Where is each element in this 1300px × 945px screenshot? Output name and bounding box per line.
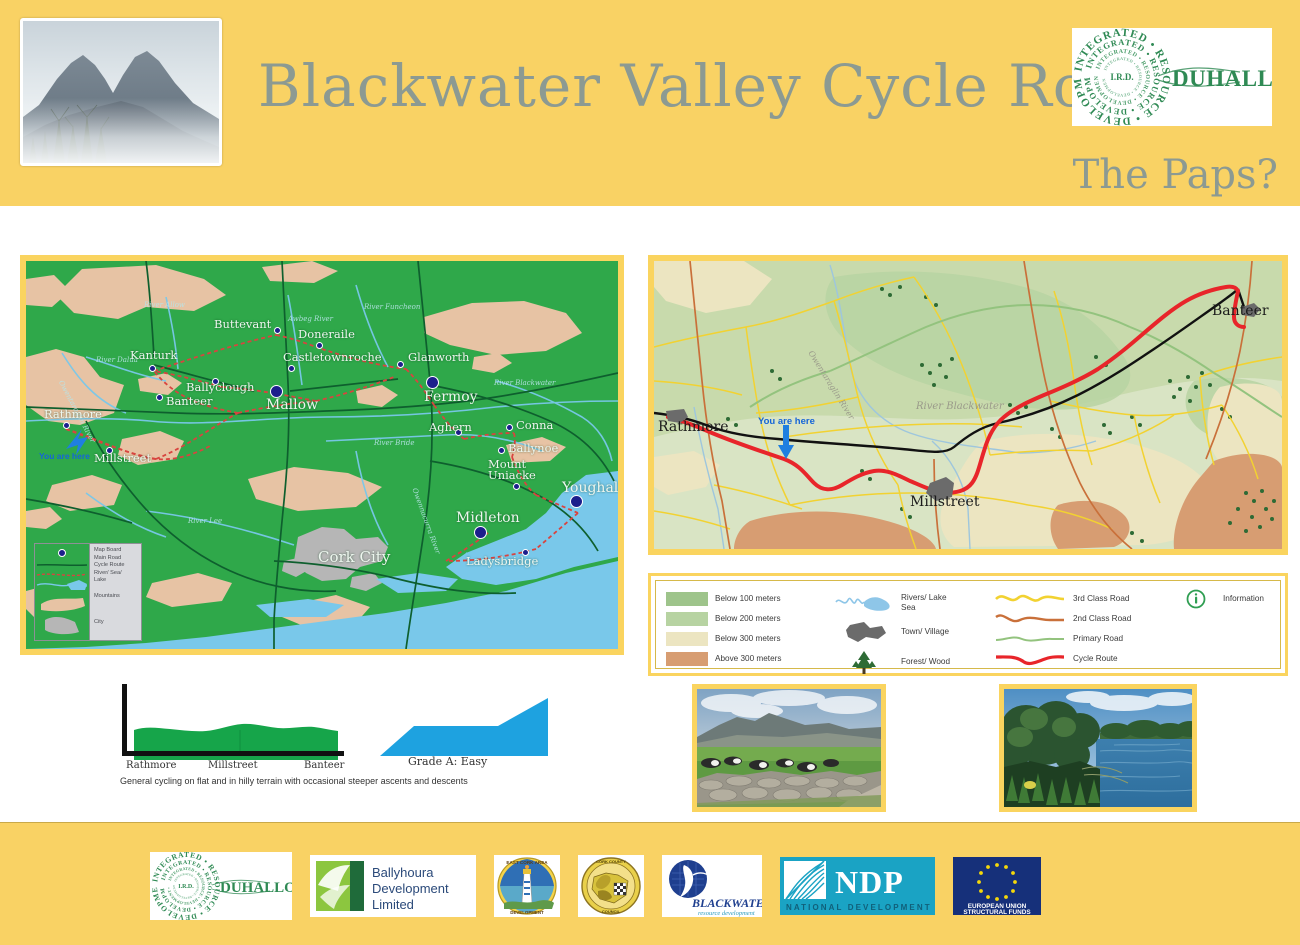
svg-text:Development: Development (372, 881, 449, 896)
ird-duhallow-footer-icon: INTEGRATED • RESOURCE • DEVELOPMENT • IN… (150, 852, 292, 920)
elevation-x-axis (122, 751, 344, 756)
cork-county-council-logo[interactable]: CORK COUNTY COUNCIL (578, 855, 644, 917)
road-label-3rd: 3rd Class Road (1073, 594, 1129, 604)
grade-indicator-chart (380, 696, 550, 762)
detail-label-rathmore: Rathmore (658, 419, 729, 435)
legend-label-river: River/ Sea/Lake (94, 570, 141, 584)
elevation-swatch-above-300 (666, 652, 708, 666)
town-label-ballynoe: Ballynoe (508, 441, 558, 455)
photo-cattle-stone-wall (692, 684, 886, 812)
legend-info-column: Information (1184, 589, 1264, 609)
road-label-cycle: Cycle Route (1073, 654, 1118, 664)
river-label: River Blackwater (494, 379, 555, 387)
overview-map-legend: Map Board Main Road Cycle Route River/ S… (34, 543, 142, 641)
page-subtitle: The Paps? (1073, 152, 1278, 198)
detail-river-label-blackwater: River Blackwater (916, 401, 1004, 412)
town-label-ballyclough: Ballyclough (186, 380, 254, 394)
legend-row: Town/ Village (834, 617, 994, 647)
detail-map[interactable]: Rathmore Millstreet Banteer River Blackw… (648, 255, 1288, 555)
grade-label: Grade A: Easy (408, 755, 487, 768)
town-label-millstreet: Millstreet (94, 451, 151, 465)
town-dot-youghal[interactable] (570, 495, 583, 508)
town-dot-rathmore[interactable] (63, 422, 70, 429)
legend-sample-icon (35, 544, 89, 640)
town-label-cork-city: Cork City (318, 548, 390, 566)
legend-row: Cycle Route (994, 649, 1184, 669)
blackwater-resource-development-logo[interactable]: BLACKWATER resource development (662, 855, 762, 917)
ird-duhallow-spiral-icon: INTEGRATED • RESOURCE • DEVELOPMENT • IN… (1072, 28, 1272, 126)
legend-row: Below 200 meters (666, 609, 834, 629)
header-mountain-photo (20, 18, 222, 166)
information-icon (1184, 588, 1208, 610)
ndp-logo[interactable]: NDP NATIONAL DEVELOPMENT PLAN (780, 857, 935, 915)
legend-row: Rivers/ LakeSea (834, 589, 994, 617)
you-are-here-label-detail: You are here (758, 416, 815, 427)
map-key-legend: Below 100 meters Below 200 meters Below … (648, 573, 1288, 676)
river-label: River Bride (374, 439, 415, 447)
town-label-mount-uniacke: MountUniacke (488, 459, 536, 481)
elevation-tick-millstreet: Millstreet (208, 760, 258, 771)
east-cork-icon: EAST CORK AREA DEVELOPMENT (494, 855, 560, 917)
svg-text:DUHALLOW: DUHALLOW (1172, 66, 1272, 91)
town-label-banteer: Banteer (166, 394, 212, 408)
third-class-road-icon (994, 591, 1066, 607)
legend-row: Primary Road (994, 629, 1184, 649)
legend-row: 2nd Class Road (994, 609, 1184, 629)
svg-text:CORK COUNTY: CORK COUNTY (596, 859, 626, 864)
detail-label-millstreet: Millstreet (910, 494, 979, 510)
photo-river-bank (999, 684, 1197, 812)
svg-text:NATIONAL DEVELOPMENT PLAN: NATIONAL DEVELOPMENT PLAN (786, 903, 935, 912)
town-label-buttevant: Buttevant (214, 317, 271, 331)
town-village-icon (834, 619, 894, 645)
town-dot-conna[interactable] (506, 424, 513, 431)
header-band: Blackwater Valley Cycle Route The Paps? … (0, 0, 1300, 206)
town-label-kanturk: Kanturk (130, 348, 177, 362)
elevation-y-axis (122, 684, 127, 756)
legend-roads-column: 3rd Class Road 2nd Class Road Primary Ro… (994, 589, 1184, 669)
town-label-aghern: Aghern (429, 420, 472, 434)
svg-text:resource development: resource development (698, 910, 755, 917)
second-class-road-icon (994, 611, 1066, 627)
town-label-midleton: Midleton (456, 510, 520, 526)
info-label: Information (1223, 594, 1264, 604)
town-dot-doneraile[interactable] (316, 342, 323, 349)
legend-row: 3rd Class Road (994, 589, 1184, 609)
svg-text:I.R.D.: I.R.D. (1110, 72, 1133, 82)
primary-road-icon (994, 631, 1066, 647)
town-dot-mount-uniacke[interactable] (513, 483, 520, 490)
town-dot-castletownroche[interactable] (288, 365, 295, 372)
road-label-2nd: 2nd Class Road (1073, 614, 1131, 624)
svg-text:Limited: Limited (372, 897, 414, 912)
ird-duhallow-logo: INTEGRATED • RESOURCE • DEVELOPMENT • IN… (1072, 28, 1272, 126)
detail-label-banteer: Banteer (1212, 303, 1269, 319)
river-label: River Allow (144, 301, 185, 309)
svg-text:NDP: NDP (835, 864, 904, 900)
town-dot-kanturk[interactable] (149, 365, 156, 372)
sponsor-logo-strip: INTEGRATED • RESOURCE • DEVELOPMENT • IN… (150, 851, 1160, 921)
svg-text:EAST CORK AREA: EAST CORK AREA (506, 860, 548, 865)
ballyhoura-icon: Ballyhoura Development Limited (310, 855, 476, 917)
legend-features-column: Rivers/ LakeSea Town/ Village Forest/ Wo… (834, 589, 994, 677)
feature-label-forest: Forest/ Wood (901, 657, 950, 667)
town-dot-ballynoe[interactable] (498, 447, 505, 454)
town-dot-buttevant[interactable] (274, 327, 281, 334)
svg-text:DUHALLOW: DUHALLOW (220, 880, 292, 896)
elevation-swatch-below-100 (666, 592, 708, 606)
river-label: River Funcheon (364, 303, 420, 311)
cork-county-council-icon: CORK COUNTY COUNCIL (578, 855, 644, 917)
photo-cattle-graphic (697, 689, 881, 807)
river-label: River Lee (188, 517, 222, 525)
forest-tree-icon (834, 649, 894, 675)
town-label-doneraile: Doneraile (298, 327, 355, 341)
eu-flag-icon: EUROPEAN UNION STRUCTURAL FUNDS (953, 857, 1041, 915)
ndp-icon: NDP NATIONAL DEVELOPMENT PLAN (780, 857, 935, 915)
photo-river-graphic (1004, 689, 1192, 807)
svg-text:Ballyhoura: Ballyhoura (372, 865, 434, 880)
elevation-label: Above 300 meters (715, 654, 781, 664)
elevation-swatch-below-200 (666, 612, 708, 626)
photo-mist-overlay (23, 98, 219, 163)
road-label-primary: Primary Road (1073, 634, 1123, 644)
river-label: Awbeg River (288, 315, 333, 323)
town-label-fermoy: Fermoy (424, 389, 478, 405)
svg-text:BLACKWATER: BLACKWATER (691, 896, 762, 910)
legend-swatch-graphic (35, 544, 90, 640)
town-dot-fermoy[interactable] (426, 376, 439, 389)
legend-label-main-road: Main Road (94, 555, 141, 563)
overview-map[interactable]: River Allow River Dalua Awbeg River Rive… (20, 255, 624, 655)
east-cork-area-development-logo[interactable]: EAST CORK AREA DEVELOPMENT (494, 855, 560, 917)
ird-duhallow-logo[interactable]: INTEGRATED • RESOURCE • DEVELOPMENT • IN… (150, 852, 292, 920)
town-label-conna: Conna (516, 418, 553, 432)
legend-row: Below 100 meters (666, 589, 834, 609)
town-dot-glanworth[interactable] (397, 361, 404, 368)
svg-text:DEVELOPMENT: DEVELOPMENT (510, 910, 544, 915)
eu-structural-funds-logo[interactable]: EUROPEAN UNION STRUCTURAL FUNDS (953, 857, 1041, 915)
elevation-label: Below 200 meters (715, 614, 781, 624)
elevation-profile-section: Rathmore Millstreet Banteer Grade A: Eas… (112, 680, 562, 790)
svg-text:I.R.D.: I.R.D. (178, 884, 194, 890)
town-label-glanworth: Glanworth (408, 350, 469, 364)
town-label-castletownroche: Castletownroche (283, 350, 382, 364)
page-title: Blackwater Valley Cycle Route (258, 52, 1058, 120)
elevation-swatch-below-300 (666, 632, 708, 646)
elevation-tick-banteer: Banteer (304, 760, 344, 771)
town-label-rathmore: Rathmore (44, 407, 102, 421)
town-label-mallow: Mallow (266, 397, 318, 413)
legend-row: Forest/ Wood (834, 647, 994, 677)
elevation-profile-chart (120, 684, 352, 760)
svg-text:STRUCTURAL FUNDS: STRUCTURAL FUNDS (963, 909, 1031, 915)
legend-elevation-column: Below 100 meters Below 200 meters Below … (666, 589, 834, 669)
ballyhoura-logo[interactable]: Ballyhoura Development Limited (310, 855, 476, 917)
feature-label-rivers: Rivers/ LakeSea (901, 593, 947, 613)
elevation-tick-rathmore: Rathmore (126, 760, 176, 771)
legend-row: Below 300 meters (666, 629, 834, 649)
town-dot-midleton[interactable] (474, 526, 487, 539)
legend-label-city: City (94, 619, 141, 627)
feature-label-town: Town/ Village (901, 627, 949, 637)
legend-label-cycle-route: Cycle Route (94, 562, 141, 570)
elevation-label: Below 300 meters (715, 634, 781, 644)
elevation-label: Below 100 meters (715, 594, 781, 604)
river-lake-icon (834, 592, 894, 614)
elevation-caption: General cycling on flat and in hilly ter… (120, 776, 468, 786)
legend-row: Information (1184, 589, 1264, 609)
cycle-route-icon (994, 650, 1066, 668)
you-are-here-label-overview: You are here (39, 451, 90, 461)
svg-text:COUNCIL: COUNCIL (602, 909, 621, 914)
blackwater-icon: BLACKWATER resource development (662, 855, 762, 917)
town-label-ladysbridge: Ladysbridge (466, 554, 538, 568)
legend-label-mountains: Mountains (94, 593, 141, 601)
town-dot-banteer[interactable] (156, 394, 163, 401)
legend-inner: Below 100 meters Below 200 meters Below … (655, 580, 1281, 669)
town-label-youghal: Youghal (562, 480, 618, 496)
legend-label-map-board: Map Board (94, 547, 141, 555)
legend-row: Above 300 meters (666, 649, 834, 669)
overview-legend-labels: Map Board Main Road Cycle Route River/ S… (90, 544, 141, 640)
